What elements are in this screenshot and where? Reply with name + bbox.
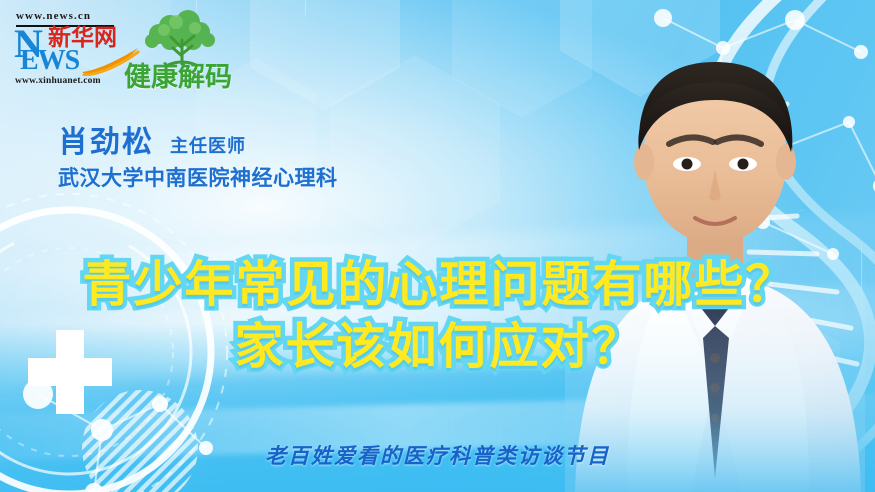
headline-line-1: 青少年常见的心理问题有哪些？ — [0, 254, 875, 316]
program-tagline: 老百姓爱看的医疗科普类访谈节目 — [0, 443, 875, 471]
headline: 青少年常见的心理问题有哪些？ 家长该如何应对？ — [0, 254, 875, 378]
xinhua-logo[interactable]: www.news.cn N EWS 新华网 www.xinhuanet.com — [14, 10, 118, 88]
speaker-info: 肖劲松 主任医师 武汉大学中南医院神经心理科 — [58, 126, 338, 192]
logo-letters-ews: EWS — [20, 47, 79, 75]
tree-icon — [140, 10, 224, 66]
brand-name: 健康解码 — [114, 62, 242, 92]
poster-canvas: www.news.cn N EWS 新华网 www.xinhuanet.com — [0, 0, 875, 492]
speaker-title: 主任医师 — [170, 135, 246, 157]
speaker-organization: 武汉大学中南医院神经心理科 — [58, 166, 338, 192]
logo-url-bottom: www.xinhuanet.com — [15, 76, 101, 86]
headline-line-2: 家长该如何应对？ — [0, 316, 875, 378]
program-brand[interactable]: 健康解码 — [114, 14, 242, 96]
speaker-name: 肖劲松 — [58, 126, 154, 160]
